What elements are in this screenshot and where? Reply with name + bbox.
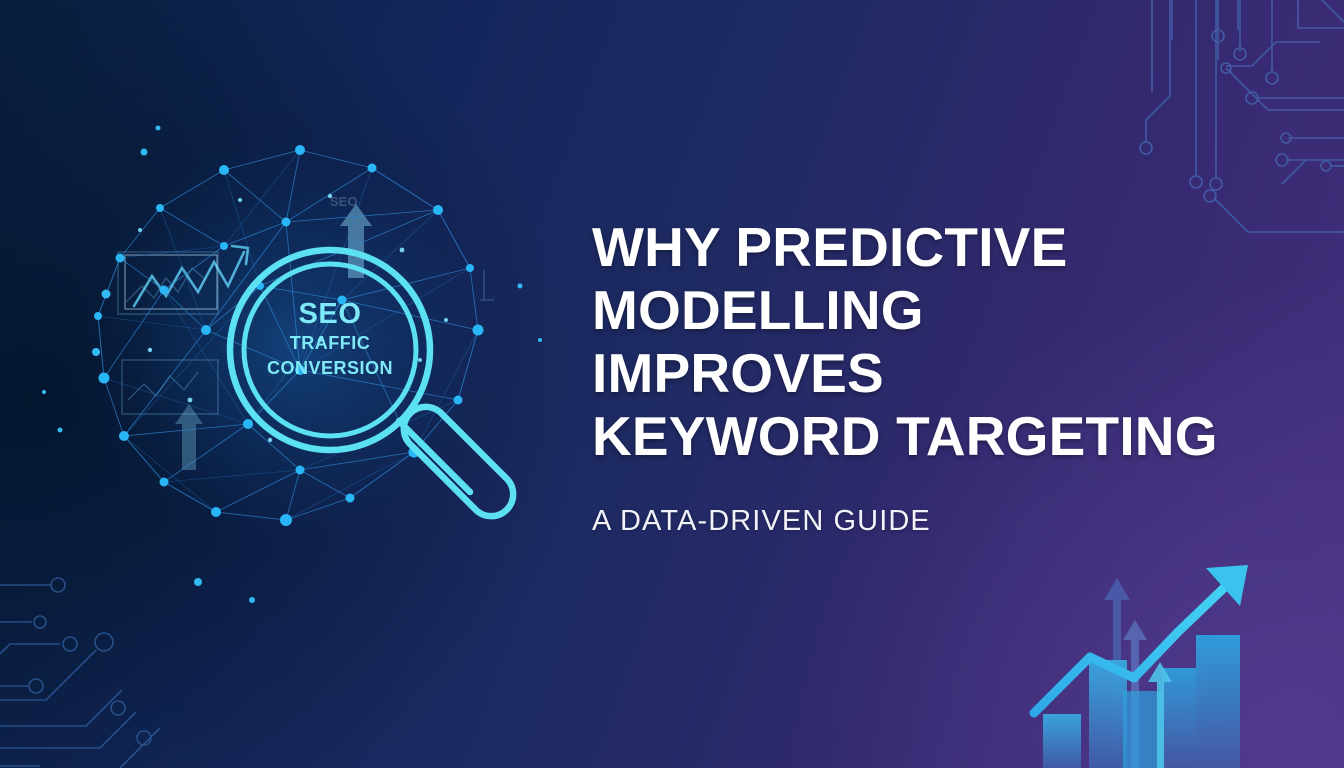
poster-canvas: SEO xyxy=(0,0,1344,768)
headline-line-1: WHY PREDICTIVE xyxy=(592,216,1292,279)
headline-line-2: MODELLING xyxy=(592,279,1292,342)
svg-text:SEO: SEO xyxy=(330,194,357,209)
bars xyxy=(1043,635,1240,768)
headline-line-4: KEYWORD TARGETING xyxy=(592,405,1292,468)
circuit-bottom-left xyxy=(0,578,160,768)
circuit-top-right xyxy=(1140,0,1344,232)
headline-line-3: IMPROVES xyxy=(592,342,1292,405)
subheadline: A DATA-DRIVEN GUIDE xyxy=(592,468,1292,538)
brain-network-graphic: SEO xyxy=(42,120,542,603)
text-block: WHY PREDICTIVE MODELLING IMPROVES KEYWOR… xyxy=(592,216,1292,538)
